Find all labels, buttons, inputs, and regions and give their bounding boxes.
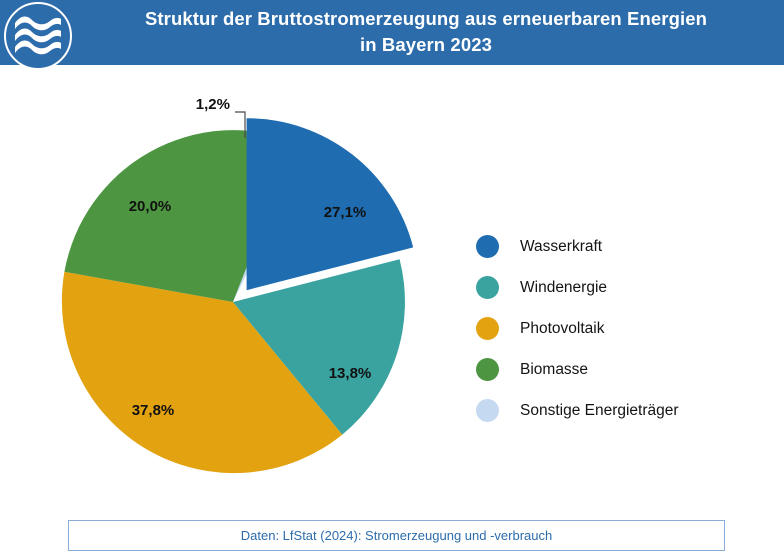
page-title-line-1: Struktur der Bruttostromerzeugung aus er…: [96, 6, 756, 32]
pie-label-windenergie: 13,8%: [329, 365, 372, 382]
legend-item-label: Sonstige Energieträger: [520, 402, 679, 420]
legend-item-label: Windenergie: [520, 279, 607, 297]
legend-item-photovoltaik[interactable]: Photovoltaik: [476, 308, 766, 349]
pie-chart: 27,1% 13,8% 37,8% 20,0% 1,2%: [40, 76, 460, 496]
legend-item-label: Wasserkraft: [520, 238, 602, 256]
legend-item-windenergie[interactable]: Windenergie: [476, 267, 766, 308]
legend-item-biomasse[interactable]: Biomasse: [476, 349, 766, 390]
legend-item-sonstige-energietraeger[interactable]: Sonstige Energieträger: [476, 390, 766, 431]
legend-swatch-icon: [476, 399, 499, 422]
pie-label-sonstige: 1,2%: [196, 96, 230, 113]
pie-label-biomasse: 20,0%: [129, 198, 172, 215]
pie-label-photovoltaik: 37,8%: [132, 402, 175, 419]
logo: [4, 2, 74, 72]
chart-legend: Wasserkraft Windenergie Photovoltaik Bio…: [476, 226, 766, 431]
source-box: Daten: LfStat (2024): Stromerzeugung und…: [68, 520, 725, 551]
legend-swatch-icon: [476, 276, 499, 299]
pie-label-wasserkraft: 27,1%: [324, 204, 367, 221]
legend-item-label: Photovoltaik: [520, 320, 604, 338]
legend-swatch-icon: [476, 317, 499, 340]
page-title: Struktur der Bruttostromerzeugung aus er…: [96, 6, 756, 58]
source-text: Daten: LfStat (2024): Stromerzeugung und…: [241, 528, 552, 543]
legend-item-label: Biomasse: [520, 361, 588, 379]
legend-swatch-icon: [476, 235, 499, 258]
legend-item-wasserkraft[interactable]: Wasserkraft: [476, 226, 766, 267]
page-title-line-2: in Bayern 2023: [96, 32, 756, 58]
legend-swatch-icon: [476, 358, 499, 381]
chart-area: 27,1% 13,8% 37,8% 20,0% 1,2% Wasserkraft…: [0, 66, 784, 511]
water-waves-icon: [13, 14, 63, 58]
